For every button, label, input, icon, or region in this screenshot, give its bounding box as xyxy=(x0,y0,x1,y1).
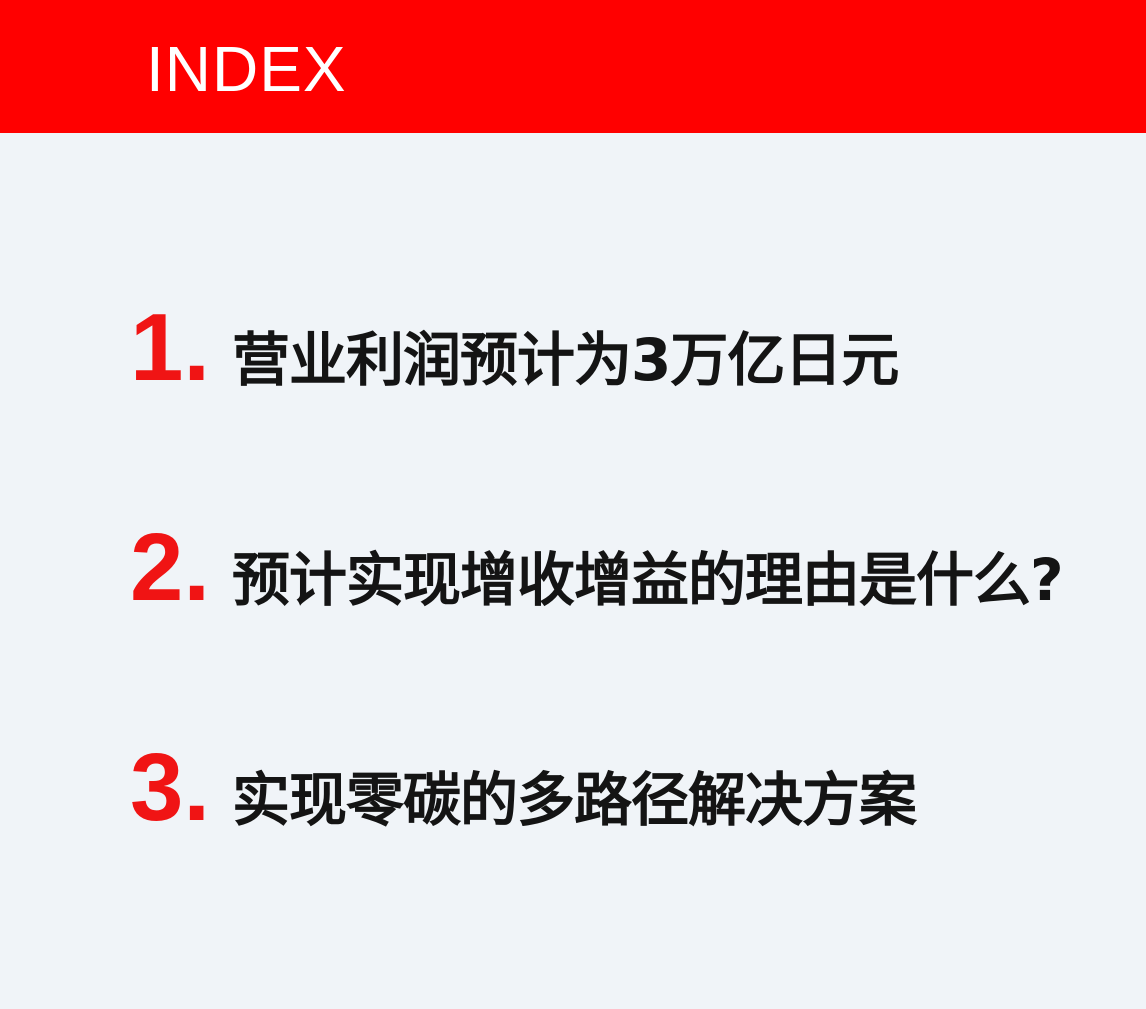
list-item[interactable]: 3. 实现零碳的多路径解决方案 xyxy=(0,740,1146,850)
list-item[interactable]: 1. 营业利润预计为3万亿日元 xyxy=(0,300,1146,410)
list-item-number: 1. xyxy=(130,300,232,396)
list-item-label: 营业利润预计为3万亿日元 xyxy=(232,312,898,408)
list-item-number: 2. xyxy=(130,520,232,616)
header-banner: INDEX xyxy=(0,0,1146,133)
list-item-number: 3. xyxy=(130,740,232,836)
list-item-label: 预计实现增收增益的理由是什么? xyxy=(232,532,1063,628)
index-list: 1. 营业利润预计为3万亿日元 2. 预计实现增收增益的理由是什么? 3. 实现… xyxy=(0,133,1146,1009)
page-title: INDEX xyxy=(146,34,347,104)
list-item-label: 实现零碳的多路径解决方案 xyxy=(232,752,916,848)
list-item[interactable]: 2. 预计实现增收增益的理由是什么? xyxy=(0,520,1146,630)
index-slide: INDEX 1. 营业利润预计为3万亿日元 2. 预计实现增收增益的理由是什么?… xyxy=(0,0,1146,1009)
